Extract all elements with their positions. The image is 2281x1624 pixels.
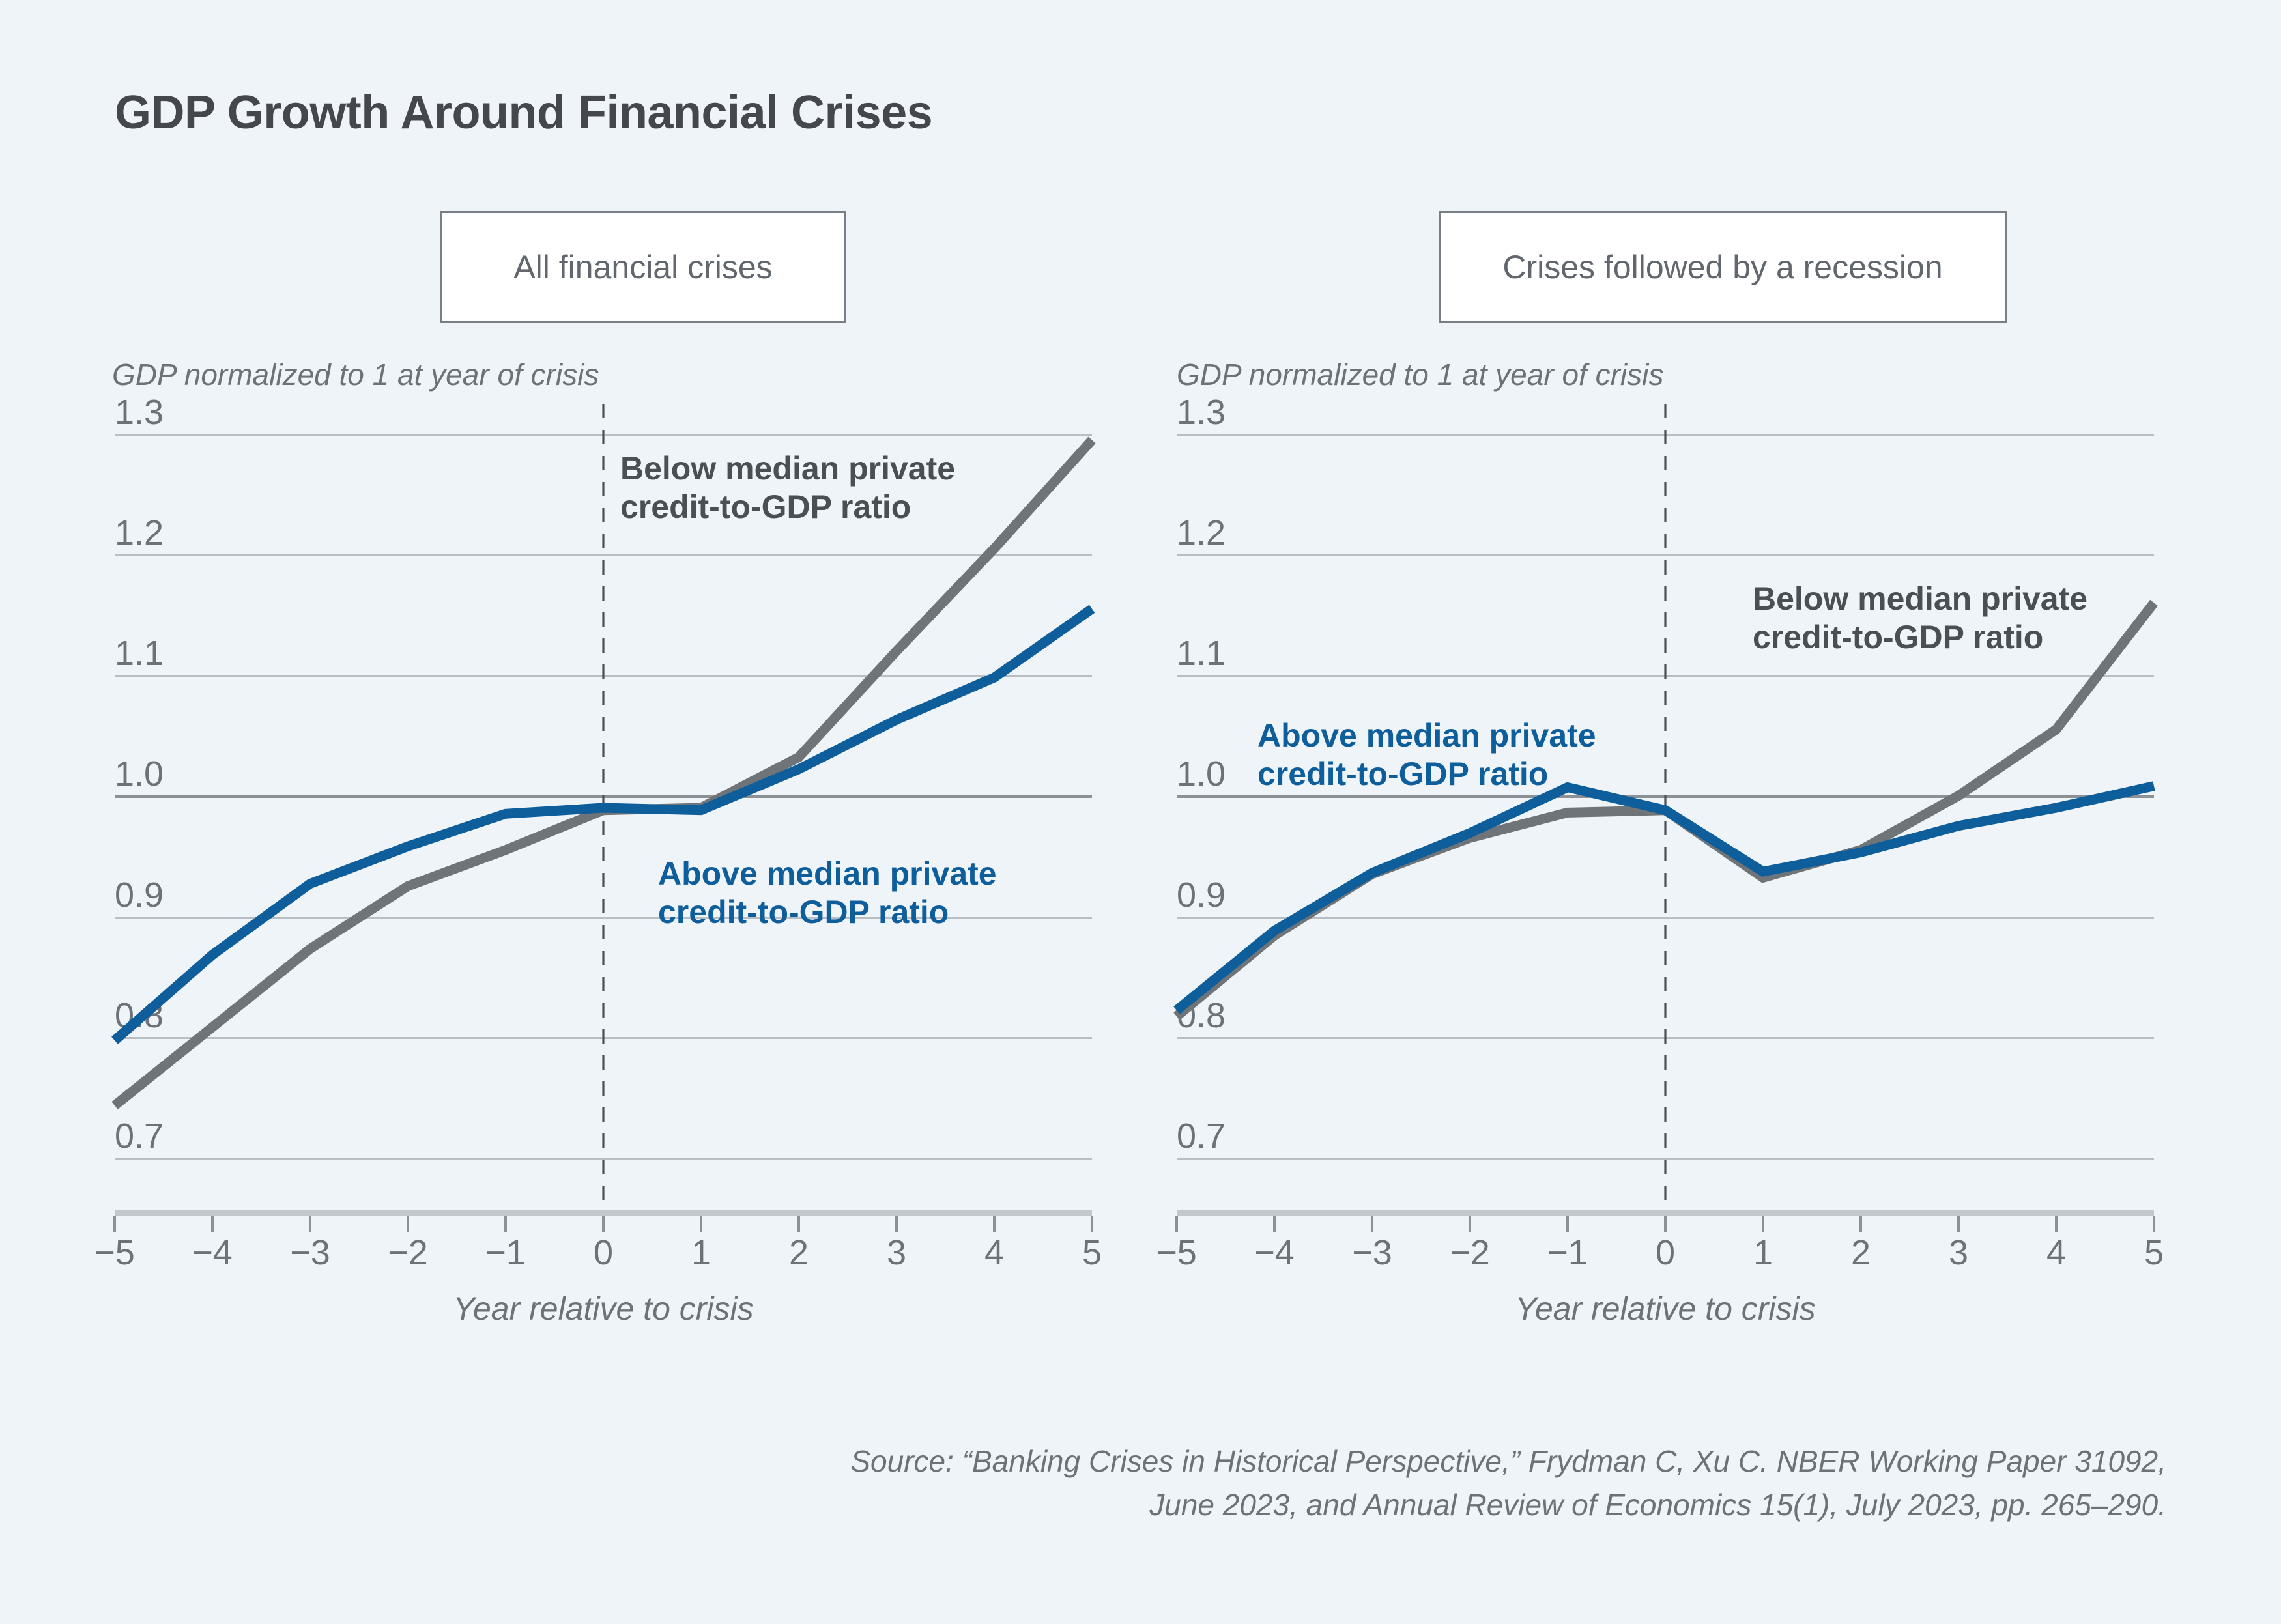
- x-axis-title: Year relative to crisis: [453, 1290, 753, 1328]
- x-axis-tick-mark: [1091, 1216, 1093, 1232]
- x-axis-tick-mark: [797, 1216, 800, 1232]
- x-axis-tick-mark: [1273, 1216, 1276, 1232]
- source-note: Source: “Banking Crises in Historical Pe…: [603, 1440, 2166, 1526]
- annotation-above-median-left-line2: credit-to-GDP ratio: [658, 893, 997, 932]
- x-axis-tick-mark: [211, 1216, 214, 1232]
- annotation-below-median-right-line1: Below median private: [1753, 580, 2087, 618]
- panel-header-crises-followed-by-recession: Crises followed by a recession: [1439, 211, 2007, 323]
- x-axis-tick-label: 1: [1753, 1232, 1773, 1273]
- x-axis-tick-mark: [2153, 1216, 2155, 1232]
- x-axis-tick-label: 4: [2046, 1232, 2066, 1273]
- x-axis-tick-label: 3: [887, 1232, 906, 1273]
- series-area-right: [1177, 404, 2154, 1212]
- x-axis-tick-label: −5: [1156, 1232, 1197, 1273]
- page-title: GDP Growth Around Financial Crises: [115, 86, 932, 139]
- x-axis-tick-label: 1: [691, 1232, 711, 1273]
- annotation-below-median-left-line1: Below median private: [620, 449, 955, 488]
- annotation-above-median-right-line1: Above median private: [1257, 717, 1596, 755]
- x-axis-tick-mark: [309, 1216, 311, 1232]
- x-axis-tick-label: −4: [1254, 1232, 1295, 1273]
- x-axis-tick-label: −3: [290, 1232, 330, 1273]
- x-axis-line-right: [1177, 1210, 2154, 1216]
- x-axis-tick-label: −2: [388, 1232, 428, 1273]
- x-axis-tick-mark: [407, 1216, 409, 1232]
- y-axis-caption-right: GDP normalized to 1 at year of crisis: [1177, 357, 1663, 392]
- x-axis-tick-mark: [895, 1216, 898, 1232]
- x-axis-line-left: [115, 1210, 1092, 1216]
- x-axis-tick-mark: [113, 1216, 116, 1232]
- annotation-above-median-left-line1: Above median private: [658, 855, 997, 893]
- x-axis-tick-label: −1: [485, 1232, 526, 1273]
- x-axis-tick-label: −3: [1352, 1232, 1392, 1273]
- chart-plot-right: 0.70.80.91.01.11.21.3: [1177, 404, 2154, 1212]
- x-axis-tick-mark: [1469, 1216, 1471, 1232]
- x-axis-tick-mark: [1175, 1216, 1178, 1232]
- x-axis-tick-mark: [993, 1216, 996, 1232]
- panel-header-all-financial-crises: All financial crises: [440, 211, 846, 323]
- annotation-below-median-left-line2: credit-to-GDP ratio: [620, 488, 955, 526]
- x-axis-tick-label: −5: [94, 1232, 135, 1273]
- x-axis-tick-label: −2: [1450, 1232, 1490, 1273]
- x-axis-tick-mark: [1566, 1216, 1569, 1232]
- x-axis-tick-mark: [1664, 1216, 1667, 1232]
- x-axis-tick-label: −4: [192, 1232, 233, 1273]
- chart-page: GDP Growth Around Financial Crises All f…: [0, 0, 2281, 1624]
- x-axis-tick-label: −1: [1547, 1232, 1588, 1273]
- source-note-line2: June 2023, and Annual Review of Economic…: [603, 1483, 2166, 1527]
- x-axis-tick-mark: [1762, 1216, 1764, 1232]
- x-axis-tick-mark: [1957, 1216, 1960, 1232]
- x-axis-tick-mark: [602, 1216, 605, 1232]
- x-axis-tick-label: 0: [1656, 1232, 1675, 1273]
- annotation-above-median-right-line2: credit-to-GDP ratio: [1257, 755, 1596, 793]
- y-axis-caption-left: GDP normalized to 1 at year of crisis: [112, 357, 599, 392]
- x-axis-tick-mark: [2055, 1216, 2058, 1232]
- x-axis-tick-mark: [1859, 1216, 1862, 1232]
- x-axis-tick-label: 5: [2144, 1232, 2164, 1273]
- x-axis-title: Year relative to crisis: [1515, 1290, 1815, 1328]
- annotation-above-median-left: Above median private credit-to-GDP ratio: [658, 855, 997, 932]
- x-axis-tick-label: 0: [594, 1232, 613, 1273]
- x-axis-tick-label: 5: [1082, 1232, 1102, 1273]
- x-axis-tick-mark: [700, 1216, 702, 1232]
- x-axis-tick-mark: [504, 1216, 507, 1232]
- data-series-line: [1177, 786, 2154, 1010]
- annotation-below-median-left: Below median private credit-to-GDP ratio: [620, 449, 955, 526]
- x-axis-tick-label: 4: [984, 1232, 1004, 1273]
- x-axis-tick-label: 3: [1949, 1232, 1968, 1273]
- x-axis-tick-label: 2: [1851, 1232, 1871, 1273]
- source-note-line1: Source: “Banking Crises in Historical Pe…: [603, 1440, 2166, 1483]
- annotation-below-median-right: Below median private credit-to-GDP ratio: [1753, 580, 2087, 657]
- annotation-below-median-right-line2: credit-to-GDP ratio: [1753, 618, 2087, 657]
- annotation-above-median-right: Above median private credit-to-GDP ratio: [1257, 717, 1596, 793]
- x-axis-tick-mark: [1371, 1216, 1373, 1232]
- x-axis-tick-label: 2: [789, 1232, 809, 1273]
